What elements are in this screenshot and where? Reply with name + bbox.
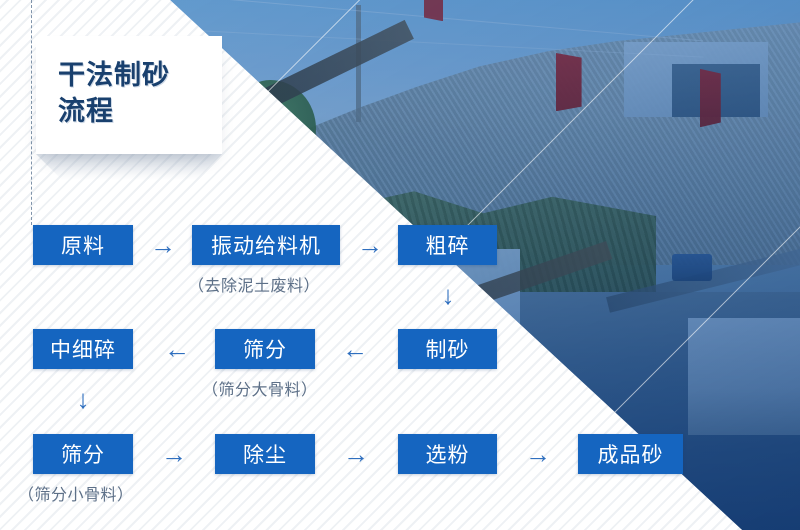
flow-row-3: 筛分除尘选粉成品砂→→→ <box>0 434 800 474</box>
flow-node[interactable]: 选粉 <box>398 434 497 474</box>
arrow-down-icon: ↓ <box>64 382 102 416</box>
arrow-right-icon: → <box>348 225 392 265</box>
arrow-down-icon: ↓ <box>429 278 467 312</box>
flow-node[interactable]: 除尘 <box>215 434 315 474</box>
title-card: 干法制砂 流程 <box>36 36 222 154</box>
arrow-left-icon: ← <box>325 329 385 369</box>
flow-caption: （筛分小骨料） <box>18 481 134 505</box>
flow-row-1: 原料振动给料机粗碎→→ <box>0 225 800 265</box>
flow-caption: （去除泥土废料） <box>188 272 320 296</box>
arrow-right-icon: → <box>141 225 185 265</box>
arrow-right-icon: → <box>505 434 571 474</box>
flow-node[interactable]: 筛分 <box>33 434 133 474</box>
flow-node[interactable]: 振动给料机 <box>192 225 340 265</box>
page-title-line2: 流程 <box>58 94 170 130</box>
infographic-canvas: 干法制砂 流程 原料振动给料机粗碎→→（去除泥土废料）中细碎筛分制砂←←（筛分大… <box>0 0 800 530</box>
flow-node[interactable]: 制砂 <box>398 329 497 369</box>
flow-node[interactable]: 筛分 <box>215 329 315 369</box>
flow-node[interactable]: 粗碎 <box>398 225 497 265</box>
flow-caption: （筛分大骨料） <box>202 376 318 400</box>
arrow-right-icon: → <box>323 434 389 474</box>
title-card-shadow <box>36 154 222 180</box>
flow-node[interactable]: 中细碎 <box>33 329 133 369</box>
arrow-left-icon: ← <box>147 329 207 369</box>
flow-node[interactable]: 成品砂 <box>578 434 683 474</box>
page-title-line1: 干法制砂 <box>58 58 170 94</box>
dashed-guide-line <box>31 0 32 225</box>
flow-node[interactable]: 原料 <box>33 225 133 265</box>
flow-row-2: 中细碎筛分制砂←← <box>0 329 800 369</box>
arrow-right-icon: → <box>141 434 207 474</box>
